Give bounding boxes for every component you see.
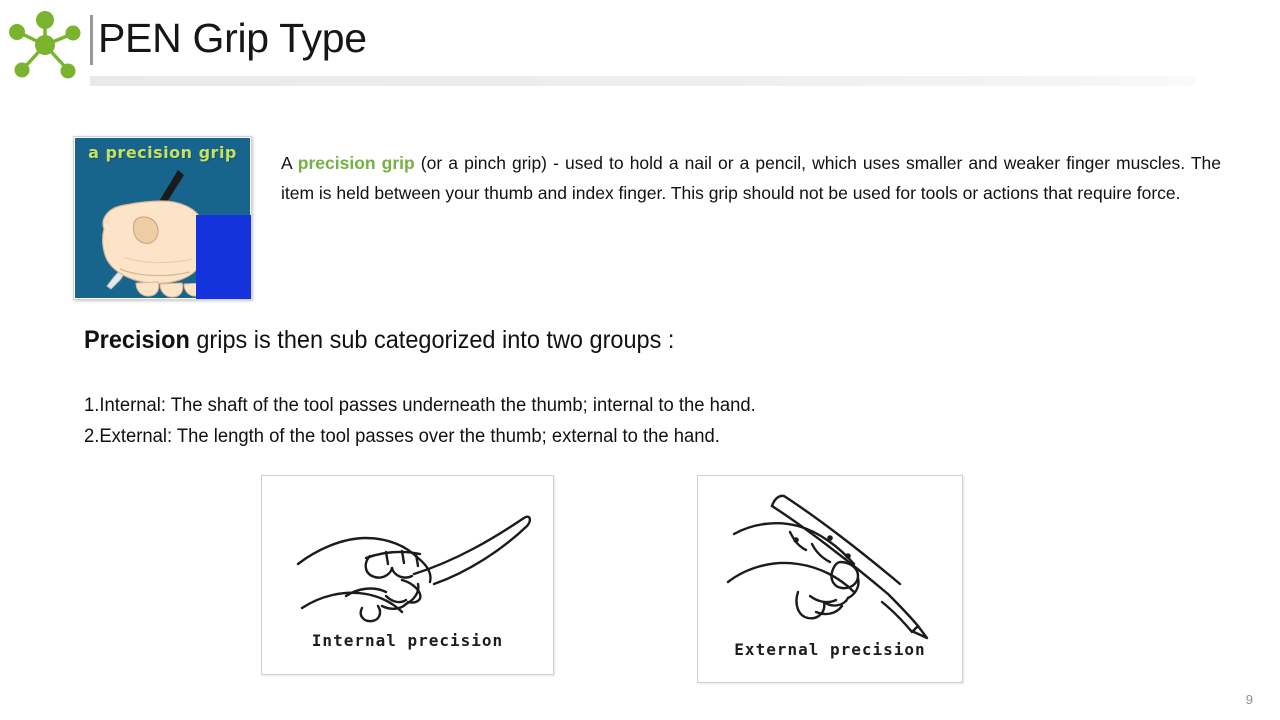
precision-grip-photo: a precision grip bbox=[73, 136, 252, 300]
subhead: Precision grips is then sub categorized … bbox=[84, 323, 674, 357]
header-rule bbox=[90, 76, 1195, 86]
list-item: 1.Internal: The shaft of the tool passes… bbox=[84, 390, 1054, 421]
figure-caption: External precision bbox=[698, 640, 962, 659]
sleeve-shape bbox=[196, 215, 251, 299]
figure-external-precision: External precision bbox=[697, 475, 963, 683]
subhead-bold: Precision bbox=[84, 326, 190, 354]
subhead-rest: grips is then sub categorized into two g… bbox=[190, 326, 675, 354]
grip-category-list: 1.Internal: The shaft of the tool passes… bbox=[84, 390, 1084, 452]
figure-caption: Internal precision bbox=[262, 631, 553, 650]
photo-caption: a precision grip bbox=[74, 143, 251, 162]
paragraph-before: A bbox=[281, 153, 298, 173]
network-nodes-icon bbox=[6, 6, 84, 84]
paragraph-highlight: precision grip bbox=[298, 153, 415, 173]
title-divider bbox=[90, 15, 93, 65]
paragraph-after: (or a pinch grip) - used to hold a nail … bbox=[281, 153, 1221, 203]
list-item: 2.External: The length of the tool passe… bbox=[84, 421, 1054, 452]
page-number: 9 bbox=[1246, 692, 1253, 707]
lead-paragraph: A precision grip (or a pinch grip) - use… bbox=[281, 148, 1221, 208]
page-title: PEN Grip Type bbox=[98, 11, 367, 65]
figure-internal-precision: Internal precision bbox=[261, 475, 554, 675]
slide-header: PEN Grip Type bbox=[0, 0, 1280, 95]
